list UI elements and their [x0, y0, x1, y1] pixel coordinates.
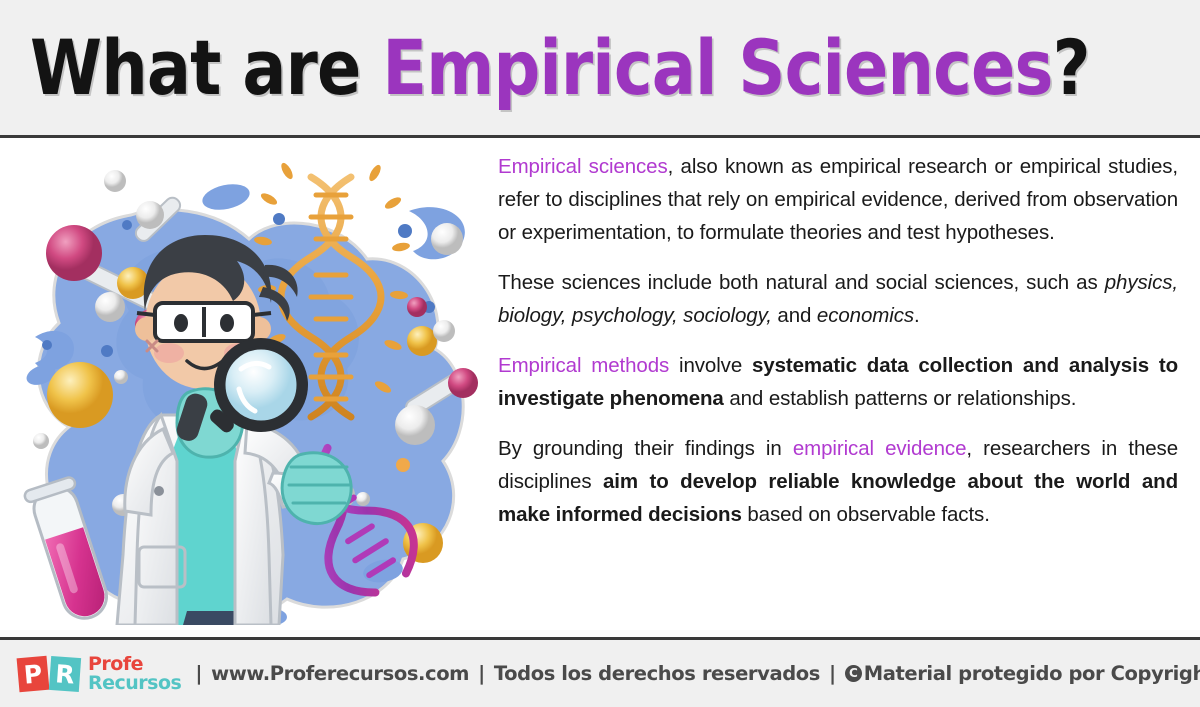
scientist-illustration [11, 155, 481, 625]
title-prefix: What are [30, 23, 382, 112]
paragraph-3: Empirical methods involve systematic dat… [498, 349, 1178, 415]
p4-highlight: empirical evidence [793, 437, 967, 460]
illustration-panel [0, 138, 492, 637]
p2-lead: These sciences include both natural and … [498, 271, 1105, 294]
logo-mark-r: R [49, 655, 81, 691]
footer-separator-1: | [195, 662, 202, 685]
p3-highlight: Empirical methods [498, 354, 669, 377]
paragraph-1: Empirical sciences, also known as empiri… [498, 150, 1178, 249]
footer-website[interactable]: www.Proferecursos.com [211, 662, 469, 685]
copyright-icon: C [845, 665, 862, 682]
article-text: Empirical sciences, also known as empiri… [492, 138, 1200, 637]
footer-rights: Todos los derechos reservados [494, 662, 820, 685]
paragraph-4: By grounding their findings in empirical… [498, 432, 1178, 531]
footer-separator-3: | [829, 662, 836, 685]
footer-copyright: CMaterial protegido por Copyright [845, 662, 1200, 685]
p4-rest: based on observable facts. [742, 503, 990, 526]
footer-separator-2: | [478, 662, 485, 685]
logo-word-recursos: Recursos [88, 674, 181, 693]
p2-italic-last: economics [817, 304, 914, 327]
footer-copyright-text: Material protegido por Copyright [864, 662, 1200, 685]
logo-wordmark: Profe Recursos [88, 655, 181, 693]
page-title: What are Empirical Sciences? [30, 30, 1090, 106]
p2-period: . [914, 304, 920, 327]
page-header: What are Empirical Sciences? [0, 0, 1200, 138]
safety-goggles [137, 303, 271, 341]
logo-word-profe: Profe [88, 655, 181, 674]
title-highlight: Empirical Sciences [382, 23, 1052, 112]
proferecursos-logo[interactable]: P R Profe Recursos [18, 655, 181, 693]
p4-lead: By grounding their findings in [498, 437, 793, 460]
p1-highlight: Empirical sciences [498, 155, 668, 178]
logo-mark-p: P [17, 655, 50, 691]
p3-rest: and establish patterns or relationships. [724, 387, 1077, 410]
logo-marks: P R [18, 657, 80, 691]
poster-page: What are Empirical Sciences? [0, 0, 1200, 707]
p2-and: and [772, 304, 817, 327]
p3-lead: involve [669, 354, 752, 377]
page-content: Empirical sciences, also known as empiri… [0, 138, 1200, 637]
page-footer: P R Profe Recursos | www.Proferecursos.c… [0, 637, 1200, 707]
paragraph-2: These sciences include both natural and … [498, 266, 1178, 332]
footer-text: | www.Proferecursos.com | Todos los dere… [195, 662, 1200, 685]
title-suffix: ? [1053, 23, 1090, 112]
